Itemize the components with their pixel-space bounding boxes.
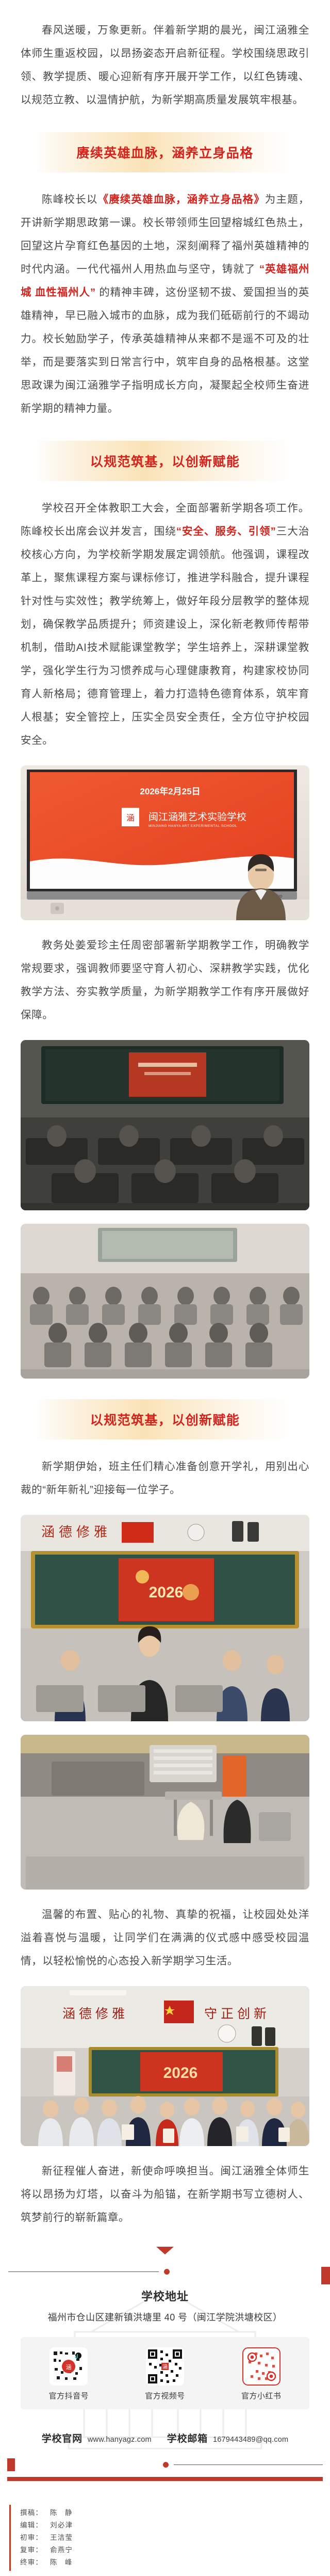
email-group[interactable]: 学校邮箱 1679443489@qq.com: [167, 2431, 289, 2445]
footer-rule-bottom: [0, 2458, 330, 2471]
credit-row: 复审：俞燕宁: [20, 2544, 330, 2556]
qr-label-douyin: 官方抖音号: [30, 2390, 107, 2401]
divider-arrow: [0, 2247, 330, 2254]
qr-item-douyin[interactable]: 涵 官方抖音号: [30, 2347, 107, 2401]
credit-role: 终审：: [20, 2558, 43, 2566]
address-title: 学校地址: [0, 2287, 330, 2304]
footer-rule-top: [0, 2262, 330, 2274]
email-value[interactable]: 1679443489@qq.com: [213, 2436, 288, 2444]
paragraph-text: 的精神丰碑，这份坚韧不拔、爱国担当的英雄精神，早已融入城市的血脉，成为我们砥砺前…: [21, 286, 309, 414]
credits-block: 撰稿：陈静 编辑：刘必津 初审：王洁莹 复审：俞燕宁 终审：陈峰: [9, 2505, 330, 2571]
svg-text:涵: 涵: [162, 2364, 168, 2370]
highlighted-phrase: 《赓续英雄血脉，涵养立身品格》: [98, 194, 265, 205]
svg-text:闽江涵雅艺术实验学校: 闽江涵雅艺术实验学校: [148, 811, 246, 823]
photo-principal-lecture: 2026年2月25日 涵 闽江涵雅艺术实验学校 MINJIANG HANYA A…: [21, 765, 309, 920]
section-header-2: 以规范筑基，以创新赋能: [34, 441, 296, 481]
credit-name: 陈: [50, 2558, 58, 2566]
classroom-wall-motto: 涵德修雅: [41, 1525, 111, 1540]
section-header-3: 以规范筑基，以创新赋能: [34, 1399, 296, 1439]
photo-group-class: 涵德修雅 守正创新 2026: [21, 1986, 309, 2146]
photo-gift-desks: [21, 1735, 309, 1890]
credit-row: 终审：陈峰: [20, 2556, 330, 2569]
svg-text:2026: 2026: [149, 1584, 184, 1601]
credit-name: 刘必津: [50, 2521, 73, 2529]
credit-role: 初审：: [20, 2534, 43, 2541]
photo-classroom-welcome: 涵德修雅 2026: [21, 1515, 309, 1721]
credit-name-2: 峰: [65, 2558, 73, 2566]
address-text: 福州市仓山区建新镇洪塘里 40 号（闽江学院洪塘校区）: [0, 2310, 330, 2324]
section-header-wrap-3: 以规范筑基，以创新赋能: [0, 1399, 330, 1439]
rule-dot-icon: [164, 2269, 170, 2275]
credit-row: 撰稿：陈静: [20, 2507, 330, 2519]
paragraph-text: 陈峰校长以: [42, 194, 98, 205]
credit-row: 初审：王洁莹: [20, 2532, 330, 2544]
qr-item-video-channel[interactable]: 涵 官方视频号: [126, 2347, 204, 2401]
warmth-paragraph: 温馨的布置、贴心的礼物、真挚的祝福，让校园处处洋溢着喜悦与温暖，让同学们在满满的…: [21, 1903, 309, 1973]
rule-block-left: [7, 2458, 15, 2471]
section-header-wrap-1: 赓续英雄血脉，涵养立身品格: [0, 132, 330, 172]
qr-label-xiaohongshu: 官方小红书: [223, 2390, 300, 2401]
rule-dot-icon-2: [163, 2462, 169, 2468]
website-group[interactable]: 学校官网 www.hanyagz.com: [42, 2431, 152, 2445]
photo-staff-meeting: [21, 1040, 309, 1210]
credit-name-2: 静: [65, 2509, 73, 2517]
group-wall-motto-left: 涵德修雅: [62, 2007, 128, 2021]
section-2-paragraph: 学校召开全体教职工大会，全面部署新学期各项工作。陈峰校长出席会议并发言，围绕“安…: [21, 497, 309, 752]
section-1-paragraph: 陈峰校长以《赓续英雄血脉，涵养立身品格》为主题，开讲新学期思政第一课。校长带领师…: [21, 188, 309, 420]
section-3-paragraph: 新学期伊始，班主任们精心准备创意开学礼，用别出心裁的“新年新礼”迎接每一位学子。: [21, 1455, 309, 1501]
page-footer: 学校地址 福州市仓山区建新镇洪塘里 40 号（闽江学院洪塘校区）: [0, 2262, 330, 2576]
closing-paragraph: 新征程催人奋进，新使命呼唤担当。闽江涵雅全体师生将以昂扬为灯塔，以奋斗为船锚，在…: [21, 2159, 309, 2229]
qr-label-video-channel: 官方视频号: [126, 2390, 204, 2401]
website-value[interactable]: www.hanyagz.com: [88, 2436, 152, 2444]
group-wall-motto-right: 守正创新: [204, 2007, 270, 2021]
credit-name: 陈: [50, 2509, 58, 2517]
credit-role: 撰稿：: [20, 2509, 43, 2517]
article-page: 春风送暖，万象更新。伴着新学期的晨光，闽江涵雅全体师生重返校园，以昂扬姿态开启新…: [0, 0, 330, 2576]
svg-text:涵: 涵: [66, 2363, 72, 2371]
rule-line-2: [174, 2465, 323, 2465]
photo1-date-text: 2026年2月25日: [140, 786, 200, 796]
svg-text:MINJIANG HANYA ART EXPERIMENTA: MINJIANG HANYA ART EXPERIMENTAL SCHOOL: [148, 824, 237, 828]
paragraph-text: 三大治校核心方向，为学校新学期发展定调领航。他强调，课程改革上，聚焦课程方案与课…: [21, 525, 309, 746]
photo-auditorium: [21, 1224, 309, 1379]
website-label: 学校官网: [42, 2431, 82, 2445]
contact-row: 学校官网 www.hanyagz.com 学校邮箱 1679443489@qq.…: [0, 2431, 330, 2445]
credit-name: 王洁莹: [50, 2534, 73, 2541]
video-channel-qr-icon: 涵: [146, 2347, 184, 2386]
credit-row: 编辑：刘必津: [20, 2519, 330, 2532]
footer-accent-bar: [7, 2477, 323, 2481]
highlighted-phrase: “安全、服务、引领”: [176, 525, 276, 537]
credit-role: 编辑：: [20, 2521, 43, 2529]
svg-text:2026: 2026: [163, 2065, 198, 2082]
qr-item-xiaohongshu[interactable]: 官方小红书: [223, 2347, 300, 2401]
email-label: 学校邮箱: [167, 2431, 208, 2445]
rule-block-right: [321, 2267, 330, 2284]
xiaohongshu-qr-icon: [242, 2347, 280, 2386]
intro-paragraph: 春风送暖，万象更新。伴着新学期的晨光，闽江涵雅全体师生重返校园，以昂扬姿态开启新…: [21, 0, 309, 111]
triangle-down-icon: [156, 2247, 174, 2254]
teaching-office-paragraph: 教务处姜爱珍主任周密部署新学期教学工作，明确教学常规要求，强调教师要坚守育人初心…: [21, 934, 309, 1027]
section-header-wrap-2: 以规范筑基，以创新赋能: [0, 441, 330, 481]
credit-role: 复审：: [20, 2546, 43, 2554]
svg-text:涵: 涵: [126, 813, 135, 823]
qr-panel: 涵 官方抖音号: [21, 2337, 309, 2409]
credit-name: 俞燕宁: [50, 2546, 73, 2554]
section-header-1: 赓续英雄血脉，涵养立身品格: [34, 132, 296, 172]
douyin-qr-icon: 涵: [49, 2347, 88, 2386]
rule-line: [8, 2271, 159, 2272]
